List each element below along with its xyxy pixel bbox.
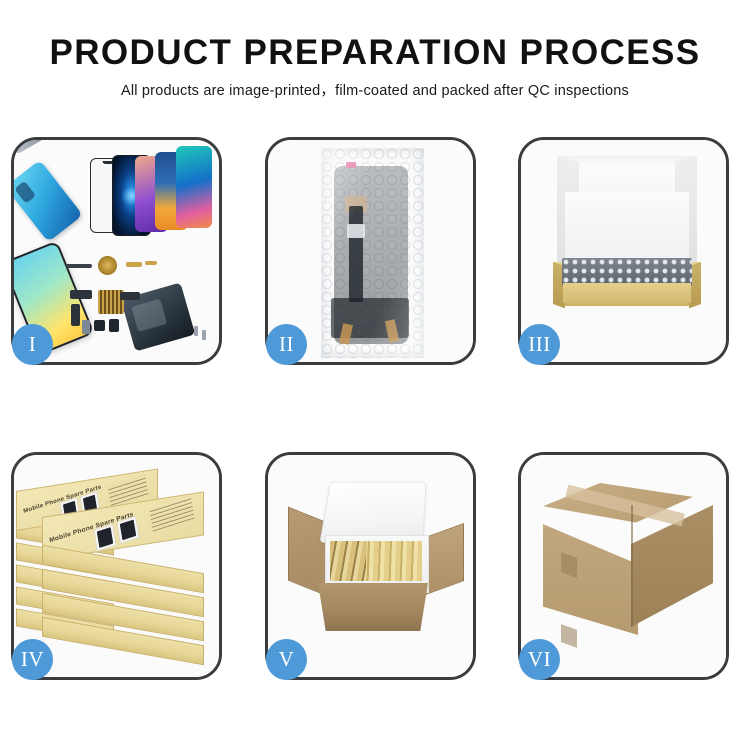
flex-cable-vertical-icon: [71, 304, 80, 326]
step-panel-2[interactable]: II: [265, 137, 476, 365]
screw-icon: [202, 330, 206, 340]
step-badge-5: V: [266, 639, 307, 680]
bubble-wrap-bag-icon: [321, 148, 424, 358]
lcd-flex-cable-icon: [349, 206, 363, 302]
speaker-coil-icon: [98, 256, 117, 275]
carton-left-face-icon: [543, 517, 638, 635]
bubble-wrap-insert-icon: [562, 258, 692, 286]
screw-icon: [194, 326, 198, 336]
page-title: PRODUCT PREPARATION PROCESS: [0, 0, 750, 73]
step-badge-6: VI: [519, 639, 560, 680]
gold-contact-icon: [145, 261, 157, 265]
carton-tab-lower-icon: [561, 624, 577, 648]
step-panel-1[interactable]: I: [11, 137, 222, 365]
box-thumbnail: [93, 523, 116, 551]
step-panel-5[interactable]: V: [265, 452, 476, 680]
phone-screen-teal-icon: [176, 146, 212, 228]
flex-connector-icon: [126, 262, 142, 267]
foam-sheet-icon: [565, 192, 689, 264]
tweezers-icon: [14, 140, 43, 154]
process-steps-grid: I II: [0, 137, 750, 697]
step-badge-3: III: [519, 324, 560, 365]
page-header: PRODUCT PREPARATION PROCESS All products…: [0, 0, 750, 130]
golden-boxes-angled-icon: [330, 541, 366, 581]
box-spec-lines: [150, 497, 195, 531]
camera-module-icon: [94, 320, 105, 331]
phone-back-cover-icon: [14, 160, 83, 242]
box-front-panel-icon: [563, 283, 691, 303]
carton-corner-seam: [631, 505, 633, 627]
vibrator-module-icon: [109, 319, 119, 332]
step-badge-4: IV: [12, 639, 53, 680]
sim-tray-icon: [82, 320, 90, 334]
foam-lid-icon: [320, 482, 427, 543]
qc-sticker-icon: [346, 162, 356, 168]
step-panel-6[interactable]: VI: [518, 452, 729, 680]
step-badge-1: I: [12, 324, 53, 365]
antenna-strip-icon: [66, 264, 92, 268]
flex-cable-small-icon: [120, 292, 140, 300]
step-badge-2: II: [266, 324, 307, 365]
carton-body-icon: [318, 583, 428, 631]
step-panel-4[interactable]: Mobile Phone Spare Parts Mobile Phone Sp…: [11, 452, 222, 680]
step-panel-3[interactable]: III: [518, 137, 729, 365]
page-subtitle: All products are image-printed，film-coat…: [0, 73, 750, 100]
flex-cable-icon: [70, 290, 92, 299]
box-thumbnail: [116, 516, 139, 544]
lcd-driver-ic-icon: [347, 224, 365, 238]
